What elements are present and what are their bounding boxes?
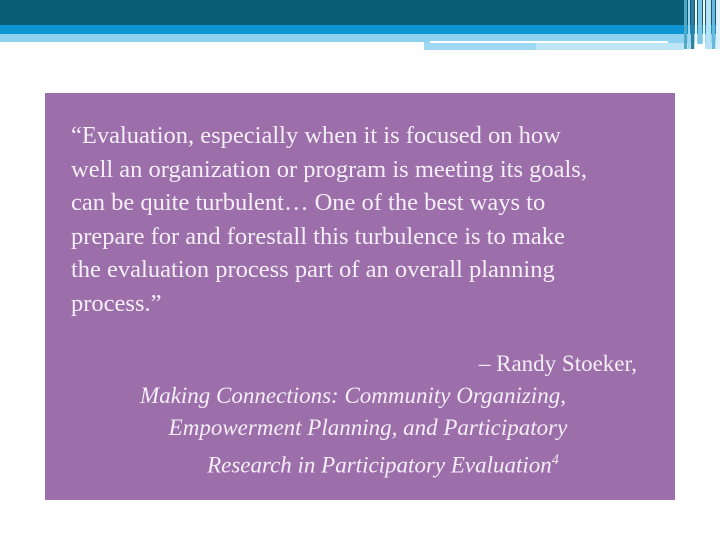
banner-stripe-notch-2 — [697, 44, 705, 58]
footnote-marker: 4 — [552, 452, 559, 468]
quote-author: – Randy Stoeker, — [71, 348, 643, 380]
banner-pale-blue-tail-left — [424, 43, 536, 50]
quote-source-title: Making Connections: Community Organizing… — [71, 380, 643, 482]
quote-line: process.” — [71, 287, 643, 321]
quote-line: “Evaluation, especially when it is focus… — [71, 119, 643, 153]
slide-canvas: “Evaluation, especially when it is focus… — [0, 0, 720, 540]
quote-source-line-text: Research in Participatory Evaluation — [207, 453, 552, 478]
quote-line: the evaluation process part of an overal… — [71, 253, 643, 287]
quote-line: prepare for and forestall this turbulenc… — [71, 220, 643, 254]
quote-source-line-with-footnote: Research in Participatory Evaluation4 — [71, 444, 635, 482]
quote-line: can be quite turbulent… One of the best … — [71, 186, 643, 220]
quote-source-line: Empowerment Planning, and Participatory — [71, 412, 635, 444]
quote-panel: “Evaluation, especially when it is focus… — [45, 93, 675, 500]
quote-text-block: “Evaluation, especially when it is focus… — [71, 119, 643, 320]
quote-source-line: Making Connections: Community Organizing… — [71, 380, 635, 412]
quote-line: well an organization or program is meeti… — [71, 153, 643, 187]
banner-dark-teal-band — [0, 0, 720, 25]
decorative-top-banner — [0, 0, 720, 58]
quote-attribution: – Randy Stoeker, Making Connections: Com… — [71, 348, 643, 482]
